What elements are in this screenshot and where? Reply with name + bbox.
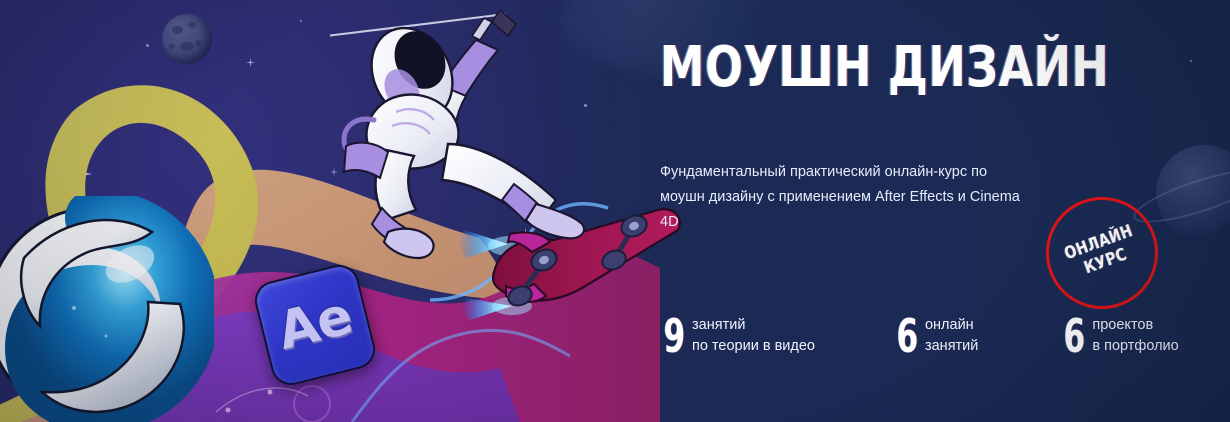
stat-label-line2: в портфолио: [1092, 336, 1178, 357]
stat-label-line1: онлайн: [925, 315, 978, 336]
stat-label-line1: занятий: [692, 315, 815, 336]
stat-item-online: 6 онлайн занятий: [893, 315, 978, 357]
stat-item-lessons: 9 занятий по теории в видео: [660, 315, 815, 357]
stats-row: 9 занятий по теории в видео 6 онлайн зан…: [660, 315, 1179, 357]
stat-label-line2: занятий: [925, 336, 978, 357]
stat-number: 9: [664, 316, 679, 356]
page-title: МОУШН ДИЗАЙН: [660, 40, 1109, 96]
stat-number: 6: [896, 316, 911, 356]
stat-label: проектов в портфолио: [1092, 315, 1178, 357]
hero-subtitle: Фундаментальный практический онлайн-курс…: [660, 160, 1020, 235]
stat-item-projects: 6 проектов в портфолио: [1060, 315, 1178, 357]
online-course-badge: ОНЛАЙН КУРС: [1046, 197, 1158, 309]
astronaut-skater-icon: [330, 0, 670, 284]
stat-number: 6: [1064, 316, 1079, 356]
hero-banner: Ae: [0, 0, 1230, 422]
stat-label-line2: по теории в видео: [692, 336, 815, 357]
stat-label: онлайн занятий: [925, 315, 978, 357]
stat-label-line1: проектов: [1092, 315, 1178, 336]
online-course-badge-text: ОНЛАЙН КУРС: [1055, 220, 1150, 286]
after-effects-logo-label: Ae: [272, 286, 358, 362]
hero-content: МОУШН ДИЗАЙН Фундаментальный практически…: [660, 0, 1230, 422]
cinema4d-logo-icon: [0, 196, 214, 422]
stat-label: занятий по теории в видео: [692, 315, 815, 357]
